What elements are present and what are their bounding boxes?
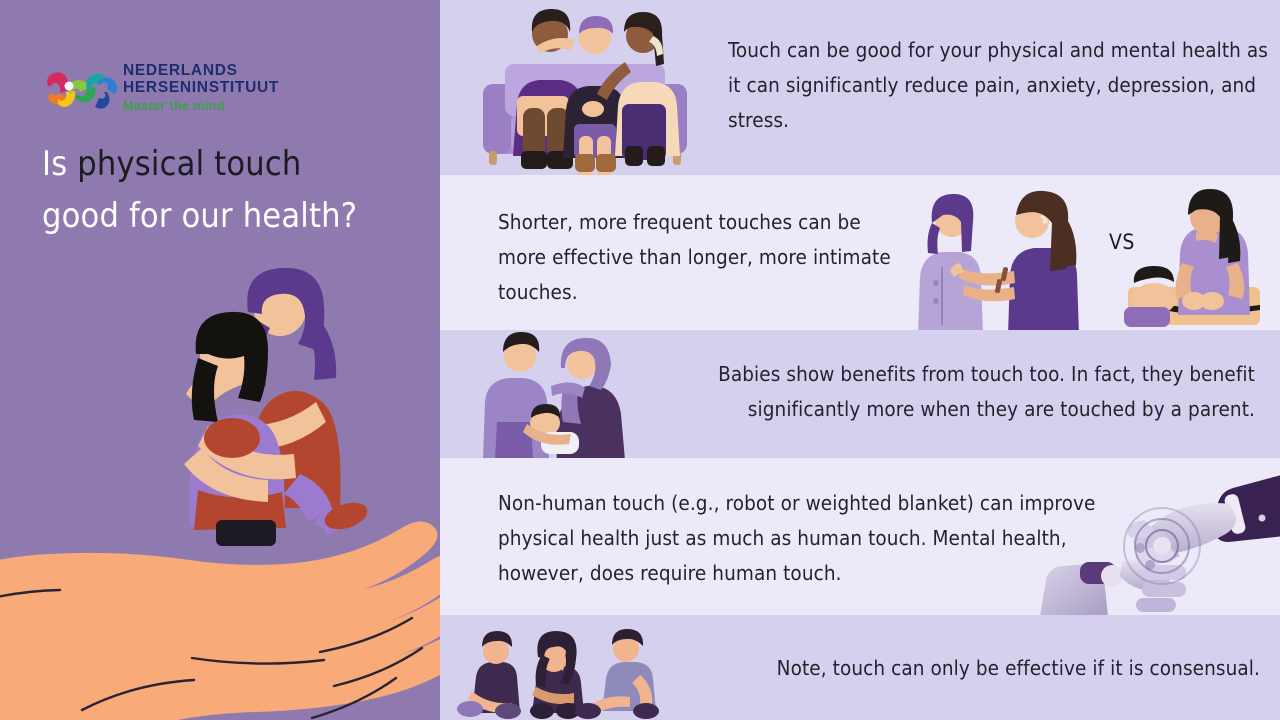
two-women-hands-on-shoulders-illustration (890, 175, 1090, 330)
row-babies: Babies show benefits from touch too. In … (440, 330, 1280, 458)
row-touch-benefits: Touch can be good for your physical and … (440, 0, 1280, 175)
logo-line-2: HERSENINSTITUUT (123, 79, 279, 96)
robot-hand-meeting-human-hand-illustration (1040, 466, 1280, 615)
logo[interactable]: NEDERLANDS HERSENINSTITUUT Master the mi… (45, 62, 260, 118)
logo-wordmark: NEDERLANDS HERSENINSTITUUT Master the mi… (123, 62, 279, 114)
row-3-text: Babies show benefits from touch too. In … (615, 357, 1255, 427)
three-people-on-sofa-hugging-illustration (475, 0, 695, 175)
row-2-text: Shorter, more frequent touches can be mo… (498, 205, 898, 310)
two-people-embracing-illustration (120, 258, 420, 548)
massage-therapist-and-client-illustration (1120, 175, 1280, 330)
title-segment-is: Is (42, 144, 77, 184)
logo-line-1: NEDERLANDS (123, 62, 279, 79)
parents-holding-baby-illustration (465, 330, 630, 458)
content-rows: Touch can be good for your physical and … (440, 0, 1280, 720)
infographic-poster: Touch can be good for your physical and … (0, 0, 1280, 720)
row-1-text: Touch can be good for your physical and … (728, 33, 1268, 138)
row-shorter-touches: Shorter, more frequent touches can be mo… (440, 175, 1280, 330)
brain-institute-logo-icon (45, 64, 117, 112)
page-title: Is physical touch good for our health? (42, 138, 422, 242)
row-5-text: Note, touch can only be effective if it … (710, 651, 1260, 686)
title-segment-good-for-our-health: good for our health? (42, 196, 357, 236)
row-4-text: Non-human touch (e.g., robot or weighted… (498, 486, 1098, 591)
three-people-sitting-on-ground-illustration (450, 615, 675, 720)
left-title-panel: NEDERLANDS HERSENINSTITUUT Master the mi… (0, 0, 440, 720)
title-segment-physical-touch: physical touch (77, 144, 301, 184)
logo-tagline: Master the mind (123, 98, 279, 114)
row-non-human-touch: Non-human touch (e.g., robot or weighted… (440, 458, 1280, 615)
row-consent: Note, touch can only be effective if it … (440, 615, 1280, 720)
